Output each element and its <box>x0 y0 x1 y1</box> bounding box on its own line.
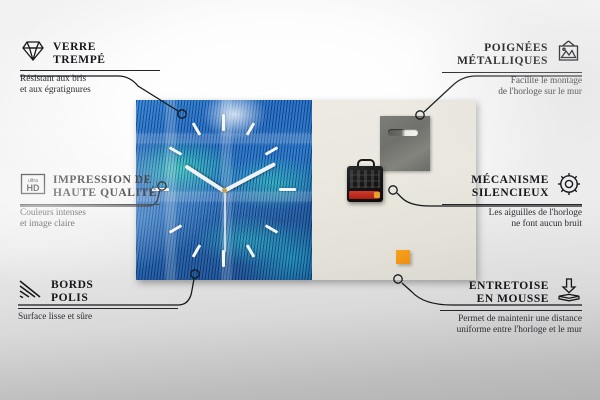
callout-verre-trempe: VERRETREMPÉ Résistant aux bris et aux ég… <box>20 40 160 96</box>
callout-subtitle: Résistant aux bris et aux égratignures <box>20 74 160 96</box>
callout-divider <box>20 204 160 205</box>
leader-dot-verre-trempe <box>178 110 186 118</box>
diagonal-lines-icon <box>18 278 44 305</box>
leader-dot-poignees <box>416 111 424 119</box>
leader-dot-bords-polis <box>191 270 199 278</box>
svg-text:HD: HD <box>27 183 40 193</box>
callout-mecanisme-silencieux: MÉCANISMESILENCIEUX Les aiguilles de l'h <box>442 172 582 230</box>
leader-dot-entretoise <box>394 275 402 283</box>
callout-subtitle: Les aiguilles de l'horloge ne font aucun… <box>442 208 582 230</box>
callout-subtitle: Permet de maintenir une distance uniform… <box>440 314 582 336</box>
gear-icon <box>556 172 582 201</box>
callout-subtitle: Surface lisse et sûre <box>18 312 178 323</box>
callout-divider <box>18 308 178 309</box>
diamond-icon <box>20 40 46 67</box>
hanging-picture-icon <box>555 40 582 69</box>
callout-title: POIGNÉESMÉTALLIQUES <box>442 42 548 68</box>
callout-divider <box>442 72 582 73</box>
callout-divider <box>440 310 582 311</box>
callout-title: ENTRETOISEEN MOUSSE <box>440 280 549 306</box>
callout-impression-haute-qualite: ultra HD IMPRESSION DEHAUTE QUALITÉ Coul… <box>20 172 160 230</box>
callout-title: VERRETREMPÉ <box>53 41 106 67</box>
callout-subtitle: Facilite le montage de l'horloge sur le … <box>442 76 582 98</box>
callout-poignees-metalliques: POIGNÉESMÉTALLIQUES Facilite le montage … <box>442 40 582 98</box>
callout-entretoise-en-mousse: ENTRETOISEEN MOUSSE Permet de maintenir … <box>440 278 582 336</box>
callout-divider <box>20 70 160 71</box>
callout-title: IMPRESSION DEHAUTE QUALITÉ <box>53 174 157 200</box>
callout-subtitle: Couleurs intenses et image claire <box>20 208 160 230</box>
callout-bords-polis: BORDSPOLIS Surface lisse et sûre <box>18 278 178 323</box>
callout-title: MÉCANISMESILENCIEUX <box>442 174 549 200</box>
product-infographic: VERRETREMPÉ Résistant aux bris et aux ég… <box>0 0 600 400</box>
leader-dot-mecanisme <box>389 186 397 194</box>
ultra-hd-badge-icon: ultra HD <box>20 172 46 201</box>
callout-title: BORDSPOLIS <box>51 279 93 305</box>
arrow-down-onto-pad-icon <box>556 278 582 307</box>
callout-divider <box>442 204 582 205</box>
